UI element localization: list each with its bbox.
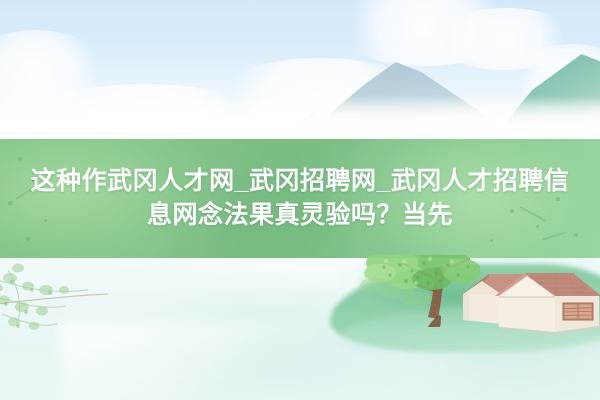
- haze-band: [0, 96, 600, 144]
- banner-text-block: 这种作武冈人才网_武冈招聘网_武冈人才招聘信 息网念法果真灵验吗？当先: [0, 139, 600, 258]
- cloud-icon: [330, 0, 520, 66]
- house-window-icon: [563, 303, 593, 320]
- leafy-branch-sprig-icon: [0, 260, 118, 355]
- banner-title-line-2: 息网念法果真灵验吗？当先: [147, 201, 453, 231]
- banner-title-line-1: 这种作武冈人才网_武冈招聘网_武冈人才招聘信: [31, 167, 570, 197]
- countryside-house-icon: [455, 272, 600, 340]
- poster-image: 这种作武冈人才网_武冈招聘网_武冈人才招聘信 息网念法果真灵验吗？当先: [0, 0, 600, 400]
- cloud-icon: [430, 8, 580, 70]
- green-banner-band: 这种作武冈人才网_武冈招聘网_武冈人才招聘信 息网念法果真灵验吗？当先: [0, 139, 600, 258]
